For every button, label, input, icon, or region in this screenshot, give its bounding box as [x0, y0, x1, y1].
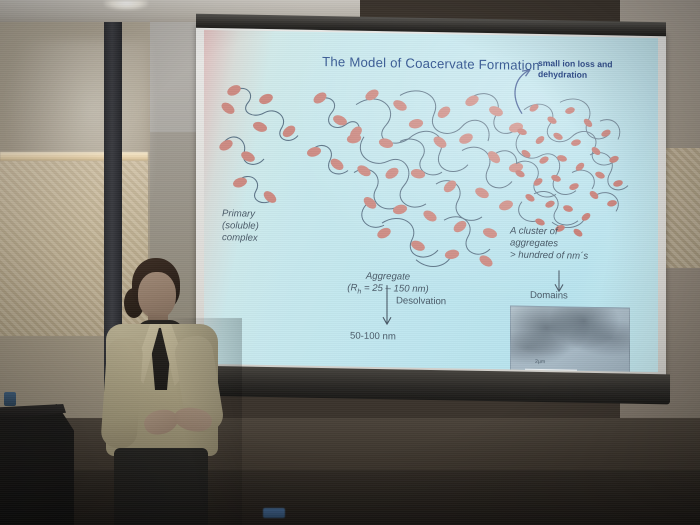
podium [0, 404, 74, 525]
presenter-arm-left [100, 337, 144, 449]
label-primary-complex-line1: Primary [222, 208, 259, 221]
label-primary-complex-line2: (soluble) [222, 220, 259, 233]
projected-slide: The Model of Coacervate Formation Primar… [204, 30, 658, 372]
micrograph-scale-label: 2µm [535, 359, 545, 365]
wall-led-strip [0, 152, 148, 161]
foreground-blue-object [263, 508, 285, 518]
label-cluster: A cluster of aggregates > hundred of nm´… [510, 225, 588, 263]
podium-bottle [4, 392, 16, 406]
label-ion-loss-line2: dehydration [538, 69, 613, 81]
projection-screen: The Model of Coacervate Formation Primar… [196, 14, 666, 405]
ceiling-light [104, 0, 148, 10]
micrograph-image: 2µm [510, 305, 630, 372]
presentation-photo-scene: The Model of Coacervate Formation Primar… [0, 0, 700, 525]
label-desolvation: Desolvation [396, 295, 446, 308]
label-ion-loss: small ion loss and dehydration [538, 58, 613, 81]
label-cluster-line3: > hundred of nm´s [510, 250, 588, 264]
label-primary-complex: Primary (soluble) complex [222, 208, 259, 245]
label-ion-loss-line1: small ion loss and [538, 58, 613, 70]
label-desolvation-result: 50-100 nm [350, 331, 396, 344]
label-aggregate-size-prefix: (R [347, 283, 357, 294]
label-primary-complex-line3: complex [222, 233, 259, 246]
presenter-skirt [114, 448, 208, 525]
presenter [86, 258, 256, 525]
label-domains: Domains [530, 290, 568, 303]
label-aggregate-size-suffix: = 25 – 150 nm) [361, 283, 428, 295]
